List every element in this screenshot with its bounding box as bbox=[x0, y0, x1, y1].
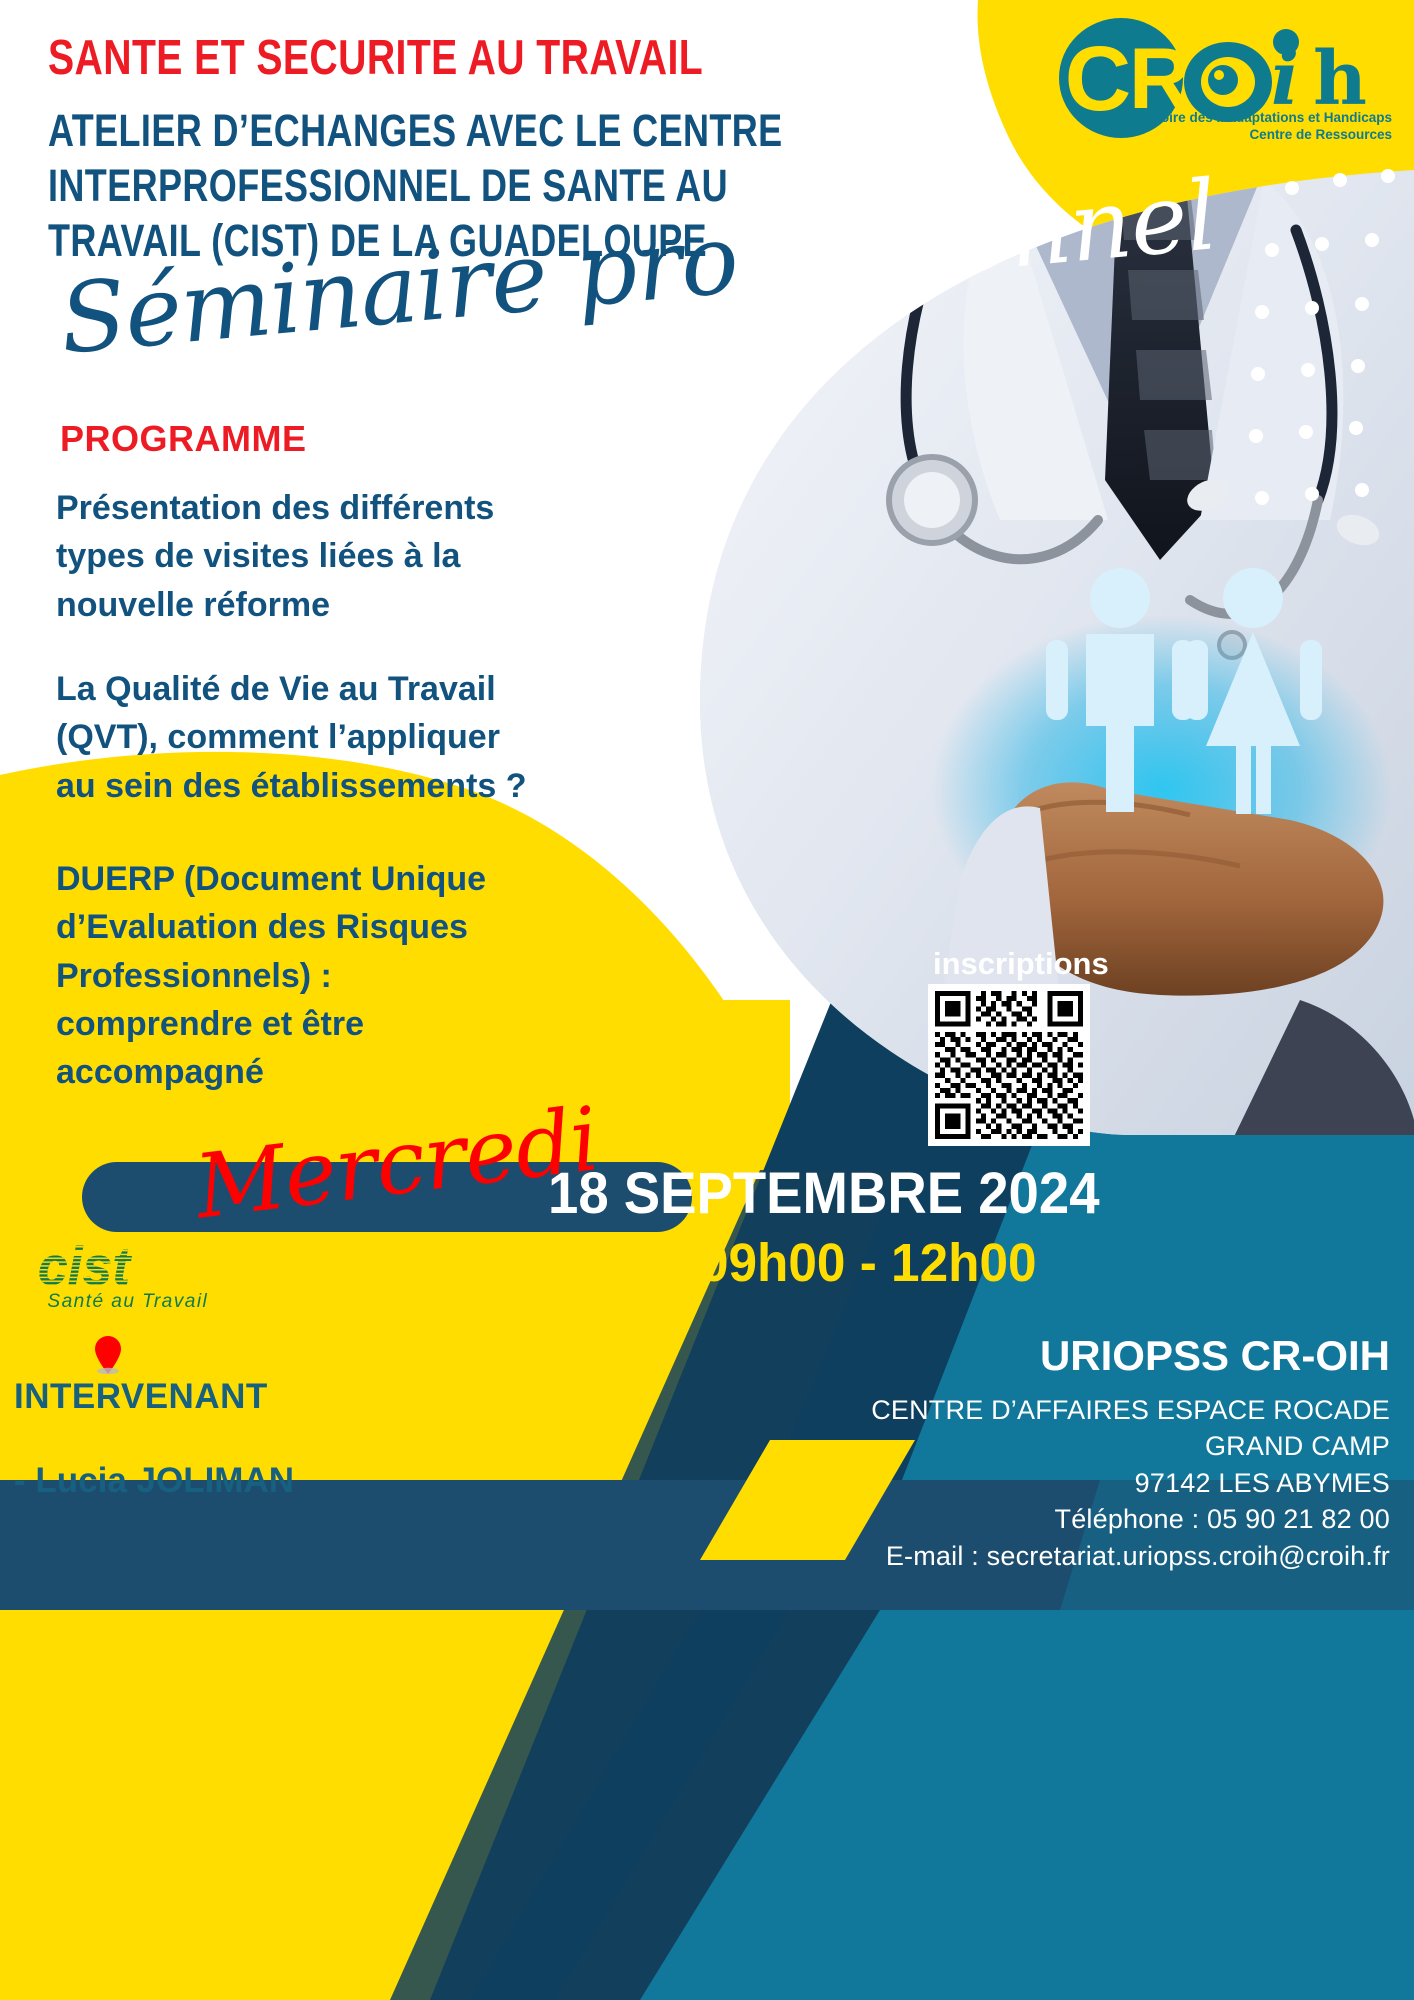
venue-email[interactable]: E-mail : secretariat.uriopss.croih@croih… bbox=[750, 1538, 1390, 1574]
cist-logo-icon: cist cist Santé au Travail bbox=[34, 1242, 254, 1317]
qr-code-icon bbox=[935, 991, 1083, 1139]
programme-item: DUERP (Document Unique d’Evaluation des … bbox=[56, 855, 576, 1096]
speaker-block: INTERVENANT - Lucia JOLIMAN bbox=[14, 1334, 344, 1544]
venue-phone: Téléphone : 05 90 21 82 00 bbox=[750, 1501, 1390, 1537]
venue-block: URIOPSS CR-OIH CENTRE D’AFFAIRES ESPACE … bbox=[750, 1332, 1390, 1574]
registration-label: inscriptions bbox=[933, 946, 1109, 982]
poster-root: C R i h SANTE ET SECURITE AU TRAVAIL ATE… bbox=[0, 0, 1414, 2000]
venue-address-line: CENTRE D’AFFAIRES ESPACE ROCADE bbox=[750, 1392, 1390, 1428]
logo-tagline-line1: Observatoire des Inadaptations et Handic… bbox=[972, 110, 1392, 125]
qr-code[interactable] bbox=[928, 984, 1090, 1146]
venue-name: URIOPSS CR-OIH bbox=[1040, 1332, 1390, 1380]
page-title: SANTE ET SECURITE AU TRAVAIL bbox=[48, 34, 848, 83]
programme-item: Présentation des différents types de vis… bbox=[56, 484, 576, 629]
programme-label: PROGRAMME bbox=[60, 418, 307, 460]
speaker-name: - Lucia JOLIMAN bbox=[14, 1460, 344, 1502]
svg-text:Santé au Travail: Santé au Travail bbox=[47, 1291, 208, 1312]
svg-text:cist: cist bbox=[38, 1242, 132, 1296]
programme-item: La Qualité de Vie au Travail (QVT), comm… bbox=[56, 665, 576, 810]
event-time: 09h00 - 12h00 bbox=[700, 1232, 1037, 1294]
event-date: 18 SEPTEMBRE 2024 bbox=[548, 1160, 1100, 1227]
speaker-role: INTERVENANT bbox=[14, 1376, 344, 1418]
logo-tagline-line2: Centre de Ressources bbox=[972, 127, 1392, 142]
cist-logo: cist cist Santé au Travail bbox=[34, 1242, 254, 1317]
venue-address-line: GRAND CAMP bbox=[750, 1428, 1390, 1464]
venue-address-line: 97142 LES ABYMES bbox=[750, 1465, 1390, 1501]
map-pin-icon bbox=[95, 1336, 121, 1374]
